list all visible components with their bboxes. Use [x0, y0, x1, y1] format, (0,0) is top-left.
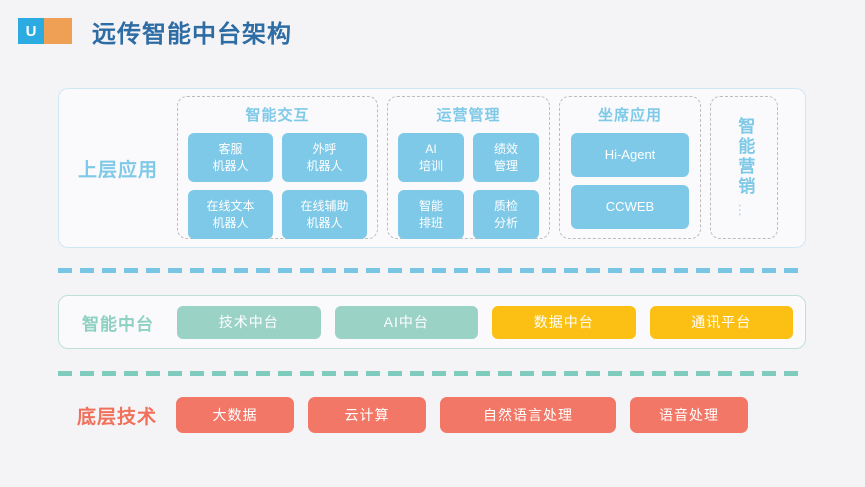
- group-grid-intelligent-interaction: 客服 机器人 外呼 机器人 在线文本 机器人: [188, 133, 367, 239]
- layer-bottom-technology: 底层技术 大数据 云计算 自然语言处理 语音处理: [58, 392, 806, 438]
- group-title-operation-management: 运营管理: [436, 104, 500, 125]
- tech-pill-big-data[interactable]: 大数据: [176, 397, 294, 433]
- logo-letter-tile: U: [18, 18, 44, 44]
- group-operation-management: 运营管理 AI 培训 绩效 管理 智能 排: [387, 96, 550, 239]
- bottom-layer-items: 大数据 云计算 自然语言处理 语音处理: [176, 397, 806, 433]
- app-box-intelligent-scheduling[interactable]: 智能 排班: [398, 190, 464, 239]
- group-grid-agent-application: Hi-Agent CCWEB: [571, 133, 689, 229]
- layer-label-middle: 智能中台: [59, 310, 177, 335]
- platform-pill-technology[interactable]: 技术中台: [177, 306, 321, 339]
- tech-pill-nlp[interactable]: 自然语言处理: [440, 397, 616, 433]
- separator-bottom: [58, 371, 806, 376]
- group-title-agent-application: 坐席应用: [598, 104, 662, 125]
- platform-pill-communication[interactable]: 通讯平台: [650, 306, 794, 339]
- group-intelligent-interaction: 智能交互 客服 机器人 外呼 机器人 在线文本: [177, 96, 378, 239]
- app-box-quality-inspection-analysis[interactable]: 质检 分析: [473, 190, 539, 239]
- layer-top-applications: 上层应用 智能交互 客服 机器人 外呼 机器人: [58, 88, 806, 248]
- platform-pill-data[interactable]: 数据中台: [492, 306, 636, 339]
- app-box-online-assist-robot[interactable]: 在线辅助 机器人: [282, 190, 367, 239]
- app-box-text: 质检 分析: [494, 198, 518, 230]
- platform-pill-ai[interactable]: AI中台: [335, 306, 479, 339]
- app-box-text: 在线文本 机器人: [206, 198, 254, 230]
- layer-label-bottom: 底层技术: [58, 402, 176, 429]
- app-box-hi-agent[interactable]: Hi-Agent: [571, 133, 689, 177]
- group-intelligent-marketing: 智能营销 …: [710, 96, 778, 239]
- page-title: 远传智能中台架构: [92, 14, 292, 49]
- app-box-text: 在线辅助 机器人: [300, 198, 348, 230]
- app-box-ai-training[interactable]: AI 培训: [398, 133, 464, 182]
- brand-logo: U: [18, 18, 72, 44]
- app-box-text: 智能 排班: [419, 198, 443, 230]
- app-box-customer-service-robot[interactable]: 客服 机器人: [188, 133, 273, 182]
- app-box-text: 绩效 管理: [494, 141, 518, 173]
- page-header: U 远传智能中台架构: [0, 0, 865, 62]
- top-layer-groups: 智能交互 客服 机器人 外呼 机器人 在线文本: [177, 89, 805, 247]
- tech-pill-speech-processing[interactable]: 语音处理: [630, 397, 748, 433]
- app-box-online-text-robot[interactable]: 在线文本 机器人: [188, 190, 273, 239]
- group-ellipsis-intelligent-marketing: …: [736, 203, 752, 219]
- group-grid-operation-management: AI 培训 绩效 管理 智能 排班: [398, 133, 539, 239]
- group-agent-application: 坐席应用 Hi-Agent CCWEB: [559, 96, 701, 239]
- middle-layer-items: 技术中台 AI中台 数据中台 通讯平台: [177, 306, 805, 339]
- tech-pill-cloud-computing[interactable]: 云计算: [308, 397, 426, 433]
- app-box-text: 外呼 机器人: [306, 141, 342, 173]
- app-box-outbound-call-robot[interactable]: 外呼 机器人: [282, 133, 367, 182]
- app-box-text: 客服 机器人: [212, 141, 248, 173]
- app-box-text: AI 培训: [419, 141, 443, 173]
- group-title-intelligent-interaction: 智能交互: [245, 104, 309, 125]
- logo-orange-tile: [44, 18, 72, 44]
- layer-middle-platform: 智能中台 技术中台 AI中台 数据中台 通讯平台: [58, 295, 806, 349]
- layer-label-top: 上层应用: [59, 89, 177, 247]
- app-box-performance-management[interactable]: 绩效 管理: [473, 133, 539, 182]
- group-title-intelligent-marketing: 智能营销: [735, 117, 754, 197]
- app-box-ccweb[interactable]: CCWEB: [571, 185, 689, 229]
- separator-top: [58, 268, 806, 273]
